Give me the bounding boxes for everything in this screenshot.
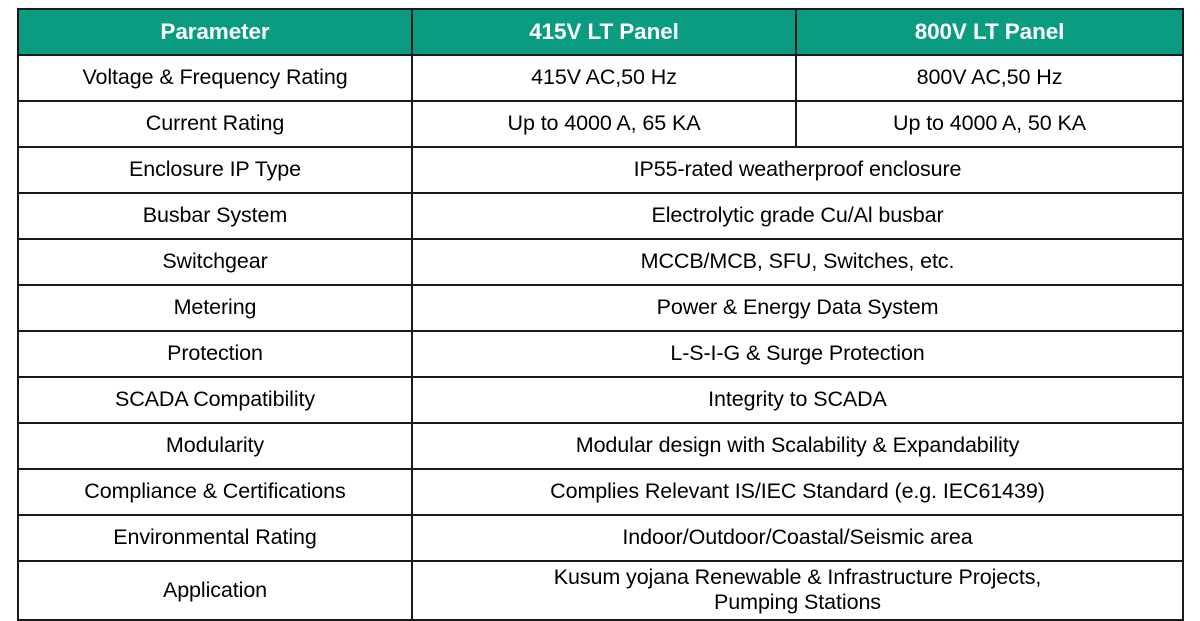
table-row: SwitchgearMCCB/MCB, SFU, Switches, etc. <box>18 239 1183 285</box>
table-row: MeteringPower & Energy Data System <box>18 285 1183 331</box>
cell-shared-value: Power & Energy Data System <box>412 285 1183 331</box>
cell-parameter: SCADA Compatibility <box>18 377 412 423</box>
cell-panel-800v: Up to 4000 A, 50 KA <box>796 101 1183 147</box>
cell-parameter: Compliance & Certifications <box>18 469 412 515</box>
page-root: Parameter 415V LT Panel 800V LT Panel Vo… <box>0 0 1200 600</box>
cell-shared-value: Indoor/Outdoor/Coastal/Seismic area <box>412 515 1183 561</box>
column-header-panel-800v: 800V LT Panel <box>796 9 1183 55</box>
cell-value-line-2: Pumping Stations <box>419 590 1176 615</box>
cell-shared-value: Integrity to SCADA <box>412 377 1183 423</box>
cell-shared-value: L-S-I-G & Surge Protection <box>412 331 1183 377</box>
cell-parameter: Environmental Rating <box>18 515 412 561</box>
cell-panel-800v: 800V AC,50 Hz <box>796 55 1183 101</box>
table-row: Enclosure IP TypeIP55-rated weatherproof… <box>18 147 1183 193</box>
table-row: ApplicationKusum yojana Renewable & Infr… <box>18 561 1183 620</box>
cell-parameter: Busbar System <box>18 193 412 239</box>
table-header: Parameter 415V LT Panel 800V LT Panel <box>18 9 1183 55</box>
cell-shared-value: Modular design with Scalability & Expand… <box>412 423 1183 469</box>
cell-parameter: Application <box>18 561 412 620</box>
cell-parameter: Voltage & Frequency Rating <box>18 55 412 101</box>
cell-shared-value: MCCB/MCB, SFU, Switches, etc. <box>412 239 1183 285</box>
cell-shared-value: IP55-rated weatherproof enclosure <box>412 147 1183 193</box>
cell-value-line-1: Kusum yojana Renewable & Infrastructure … <box>419 565 1176 590</box>
cell-parameter: Protection <box>18 331 412 377</box>
cell-parameter: Current Rating <box>18 101 412 147</box>
table-row: Voltage & Frequency Rating415V AC,50 Hz8… <box>18 55 1183 101</box>
cell-parameter: Metering <box>18 285 412 331</box>
specification-table: Parameter 415V LT Panel 800V LT Panel Vo… <box>17 8 1184 621</box>
column-header-parameter: Parameter <box>18 9 412 55</box>
table-row: Busbar SystemElectrolytic grade Cu/Al bu… <box>18 193 1183 239</box>
table-row: ModularityModular design with Scalabilit… <box>18 423 1183 469</box>
table-row: Current RatingUp to 4000 A, 65 KAUp to 4… <box>18 101 1183 147</box>
table-row: Environmental RatingIndoor/Outdoor/Coast… <box>18 515 1183 561</box>
table-row: SCADA CompatibilityIntegrity to SCADA <box>18 377 1183 423</box>
cell-parameter: Modularity <box>18 423 412 469</box>
table-body: Voltage & Frequency Rating415V AC,50 Hz8… <box>18 55 1183 620</box>
table-row: Compliance & CertificationsComplies Rele… <box>18 469 1183 515</box>
cell-parameter: Enclosure IP Type <box>18 147 412 193</box>
cell-shared-value: Kusum yojana Renewable & Infrastructure … <box>412 561 1183 620</box>
cell-panel-415v: Up to 4000 A, 65 KA <box>412 101 796 147</box>
cell-shared-value: Complies Relevant IS/IEC Standard (e.g. … <box>412 469 1183 515</box>
table-row: ProtectionL-S-I-G & Surge Protection <box>18 331 1183 377</box>
cell-panel-415v: 415V AC,50 Hz <box>412 55 796 101</box>
header-row: Parameter 415V LT Panel 800V LT Panel <box>18 9 1183 55</box>
column-header-panel-415v: 415V LT Panel <box>412 9 796 55</box>
cell-shared-value: Electrolytic grade Cu/Al busbar <box>412 193 1183 239</box>
cell-parameter: Switchgear <box>18 239 412 285</box>
